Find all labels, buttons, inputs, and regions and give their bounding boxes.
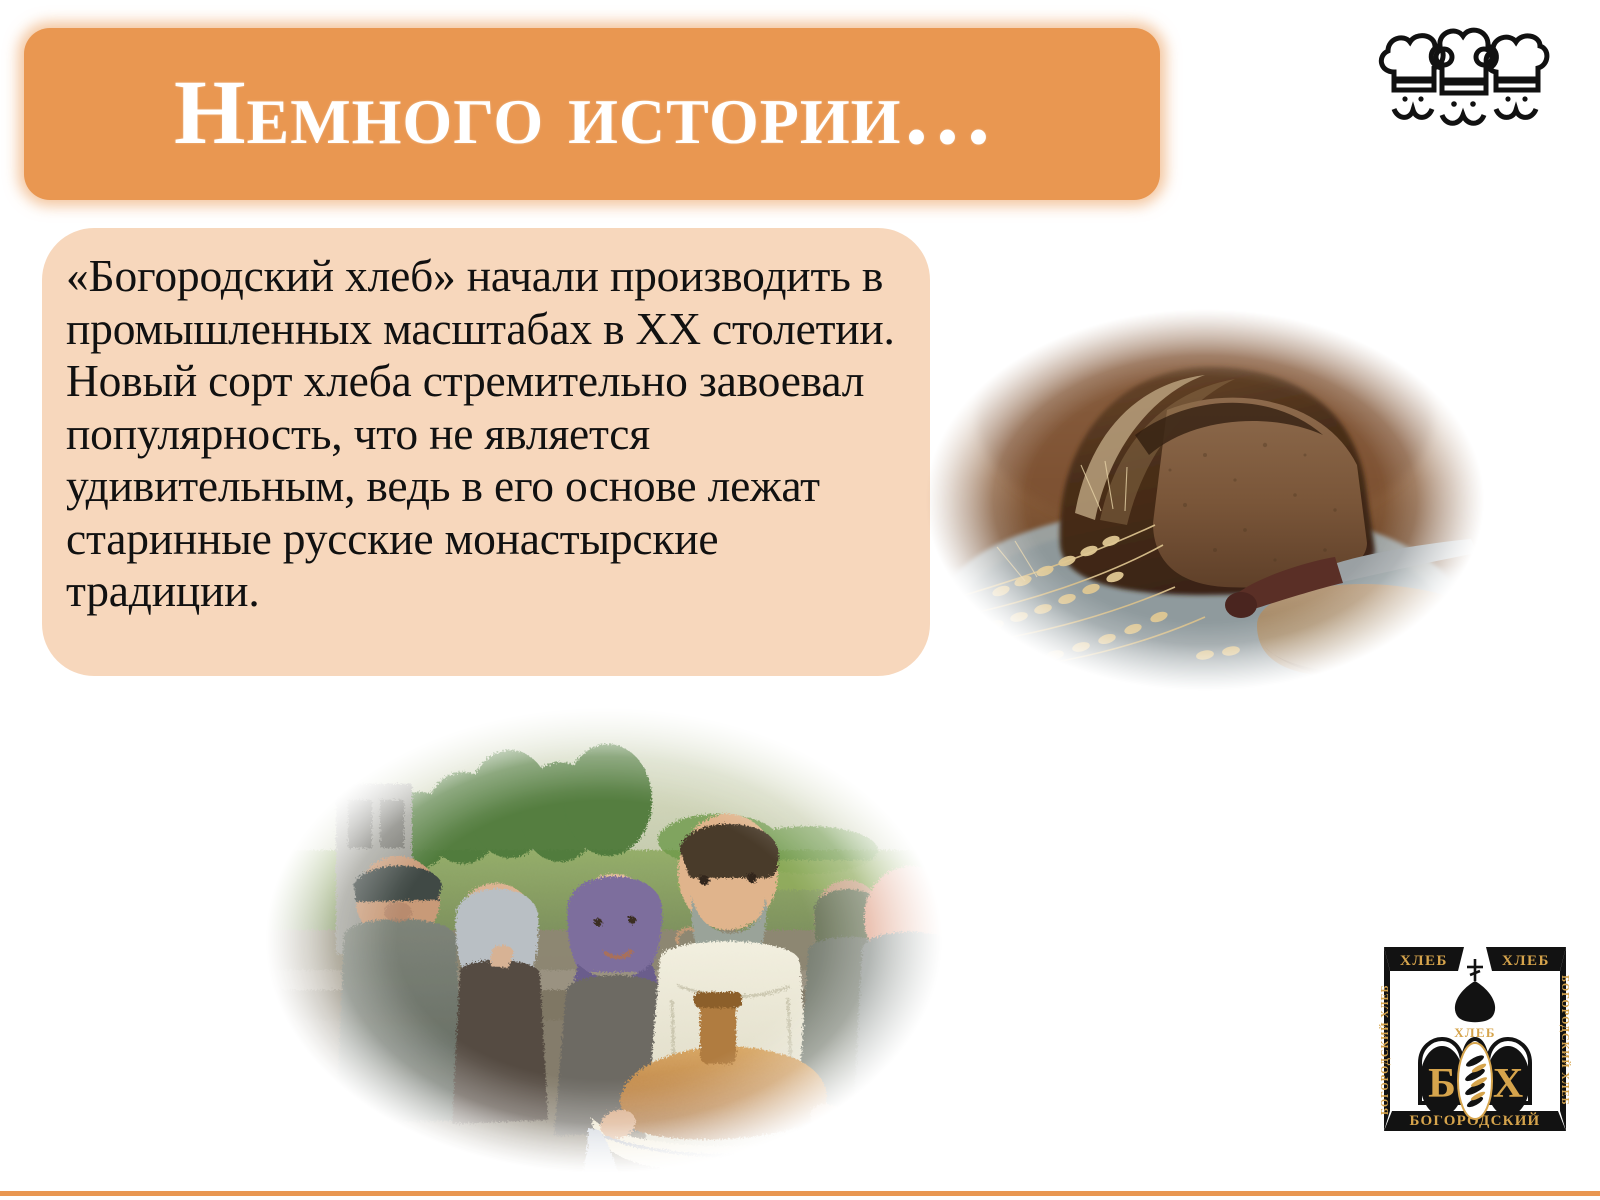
body-text: «Богородский хлеб» начали производить в … xyxy=(66,250,900,618)
logo-top-right-word: ХЛЕБ xyxy=(1502,953,1550,969)
chef-hats-icon xyxy=(1372,22,1552,126)
logo-top-left-word: ХЛЕБ xyxy=(1400,953,1448,969)
logo-right-side-text: БОГОРОДСКИЙ ХЛЕБ xyxy=(1559,975,1571,1105)
page-title: Немного истории… xyxy=(174,66,994,158)
bottom-accent-rule xyxy=(0,1191,1600,1196)
bogorodsky-hleb-logo: ХЛЕБ ХЛЕБ БОГОРОДСКИЙ БОГОРОДСКИЙ ХЛЕБ Б… xyxy=(1372,935,1578,1141)
villagers-bread-salt-painting xyxy=(248,700,960,1180)
logo-left-side-text: БОГОРОДСКИЙ ХЛЕБ xyxy=(1379,984,1391,1114)
bread-loaf-photo xyxy=(905,295,1505,705)
logo-monogram-right: Х xyxy=(1493,1061,1523,1107)
logo-monogram-left: Б xyxy=(1428,1061,1456,1107)
slide-canvas: Немного истории… xyxy=(0,0,1600,1200)
body-text-panel: «Богородский хлеб» начали производить в … xyxy=(42,228,930,676)
title-banner: Немного истории… xyxy=(24,28,1160,200)
